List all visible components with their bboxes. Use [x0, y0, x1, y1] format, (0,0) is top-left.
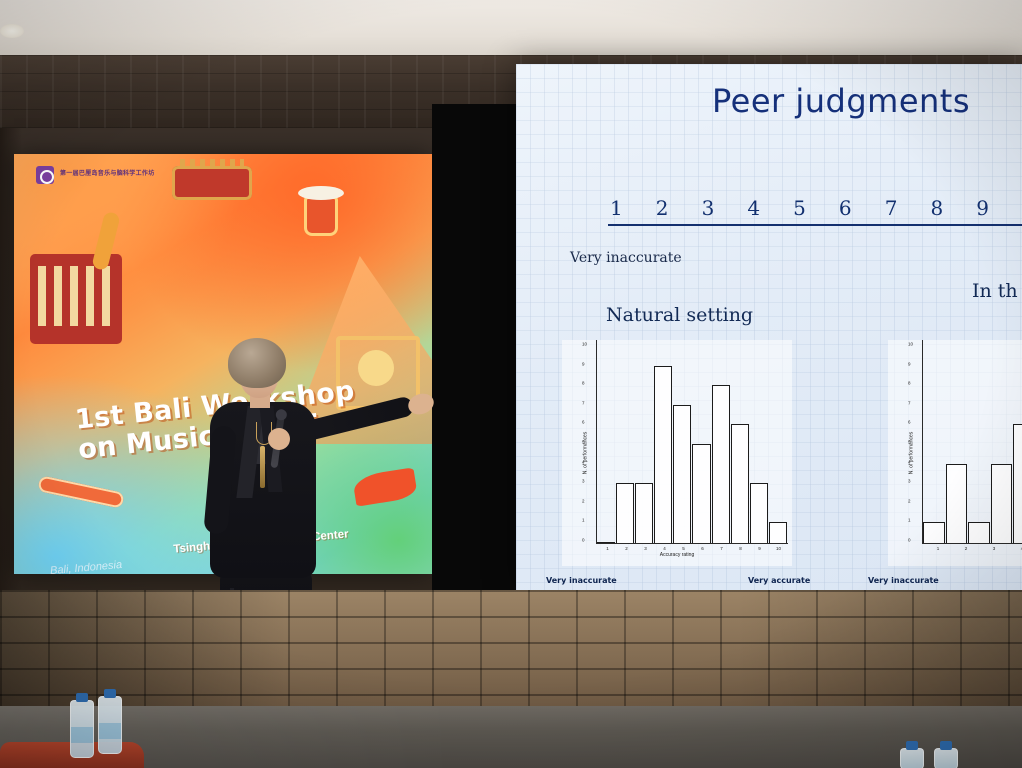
x-axis	[596, 543, 788, 544]
water-bottle	[900, 748, 924, 768]
x-tick: 3	[644, 546, 647, 551]
histogram-bar	[635, 483, 653, 543]
y-tick: 10	[582, 342, 587, 347]
y-tick: 7	[582, 400, 585, 405]
pendant	[260, 446, 265, 488]
poster-logo-text: 第一届巴厘岛音乐与脑科学工作坊	[60, 171, 155, 179]
y-tick: 1	[582, 518, 585, 523]
histogram-bar	[750, 483, 768, 543]
histogram-bars	[923, 344, 1022, 543]
y-tick: 2	[908, 498, 911, 503]
left-hand	[268, 428, 290, 450]
bottle-cap	[940, 741, 952, 750]
y-tick: 10	[908, 342, 913, 347]
hist2-caption-low: Very inaccurate	[868, 576, 939, 585]
histogram-bar	[731, 424, 749, 543]
y-tick: 0	[908, 538, 911, 543]
y-tick: 3	[908, 479, 911, 484]
natural-setting-histogram: N. of performances Accuracy rating 01234…	[562, 340, 792, 566]
slide-title: Peer judgments	[712, 82, 970, 120]
bottle-cap	[104, 689, 116, 698]
water-bottle	[98, 696, 122, 754]
y-tick: 6	[582, 420, 585, 425]
histogram-bar	[968, 522, 990, 543]
y-tick: 5	[582, 440, 585, 445]
y-tick: 1	[908, 518, 911, 523]
x-tick: 8	[739, 546, 742, 551]
scale-anchor-low: Very inaccurate	[570, 250, 682, 266]
histogram-bar	[769, 522, 787, 543]
histogram-bar	[991, 464, 1013, 543]
scale-number-3: 3	[702, 196, 748, 220]
slide-screen: Peer judgments 1 2 3 4 5 6 7 8 9 Very in…	[516, 64, 1022, 590]
instrument-rack-icon	[30, 254, 122, 344]
y-tick: 0	[582, 538, 585, 543]
x-tick: 3	[993, 546, 996, 551]
histogram-bar	[1013, 424, 1022, 543]
y-tick: 2	[582, 498, 585, 503]
histogram-bar	[712, 385, 730, 543]
wall-shading	[0, 590, 1022, 710]
scale-number-9: 9	[976, 196, 1022, 220]
x-tick: 4	[663, 546, 666, 551]
screen-divider	[432, 104, 518, 590]
scale-number-4: 4	[747, 196, 793, 220]
right-arm	[302, 395, 416, 442]
y-tick: 4	[908, 459, 911, 464]
x-axis-label: Accuracy rating	[562, 552, 792, 558]
ceiling	[0, 0, 1022, 60]
water-bottle	[934, 748, 958, 768]
bottle-label	[71, 727, 93, 743]
photo-scene: 第一届巴厘岛音乐与脑科学工作坊 1st Bali Workshop on Mus…	[0, 0, 1022, 768]
y-tick: 9	[908, 361, 911, 366]
y-tick: 6	[908, 420, 911, 425]
hist1-caption-low: Very inaccurate	[546, 576, 617, 585]
histogram-bar	[692, 444, 710, 543]
x-tick: 7	[720, 546, 723, 551]
histogram-bars	[597, 344, 788, 543]
floor-reflection	[0, 706, 1022, 768]
gamelan-icon	[172, 166, 252, 200]
x-tick: 9	[758, 546, 761, 551]
y-tick: 8	[582, 381, 585, 386]
x-tick: 2	[625, 546, 628, 551]
y-axis-label: N. of performances	[582, 432, 588, 475]
x-tick: 1	[606, 546, 609, 551]
rating-scale-numbers: 1 2 3 4 5 6 7 8 9	[610, 196, 1022, 220]
poster-logo: 第一届巴厘岛音乐与脑科学工作坊	[36, 166, 155, 184]
lab-setting-histogram: N. of performances 012345678910 1234	[888, 340, 1022, 566]
y-tick: 4	[582, 459, 585, 464]
scale-number-7: 7	[885, 196, 931, 220]
x-tick: 6	[701, 546, 704, 551]
x-tick: 2	[965, 546, 968, 551]
x-tick: 1	[937, 546, 940, 551]
drum-icon	[304, 196, 338, 236]
section-label-natural-setting: Natural setting	[606, 304, 753, 326]
x-tick: 10	[776, 546, 781, 551]
y-axis-label: N. of performances	[908, 432, 914, 475]
y-tick: 7	[908, 400, 911, 405]
hair	[228, 338, 286, 388]
scale-number-1: 1	[610, 196, 656, 220]
y-tick: 8	[908, 381, 911, 386]
histogram-bar	[946, 464, 968, 543]
y-tick: 9	[582, 361, 585, 366]
bottle-cap	[906, 741, 918, 750]
y-tick: 3	[582, 479, 585, 484]
histogram-bar	[616, 483, 634, 543]
histogram-bar	[923, 522, 945, 543]
histogram-bar	[654, 366, 672, 543]
ceiling-light-icon	[0, 24, 24, 38]
x-tick: 5	[682, 546, 685, 551]
x-axis	[922, 543, 1022, 544]
y-tick: 5	[908, 440, 911, 445]
scale-number-8: 8	[930, 196, 976, 220]
bottle-cap	[76, 693, 88, 702]
section-label-lab-setting: In th	[972, 280, 1018, 302]
hist1-caption-high: Very accurate	[748, 576, 810, 585]
histogram-bar	[597, 542, 615, 543]
scale-number-5: 5	[793, 196, 839, 220]
histogram-bar	[673, 405, 691, 543]
water-bottle	[70, 700, 94, 758]
scale-number-2: 2	[656, 196, 702, 220]
scale-number-6: 6	[839, 196, 885, 220]
rating-scale-line	[608, 224, 1022, 226]
university-logo-icon	[36, 166, 54, 184]
bottle-label	[99, 723, 121, 739]
